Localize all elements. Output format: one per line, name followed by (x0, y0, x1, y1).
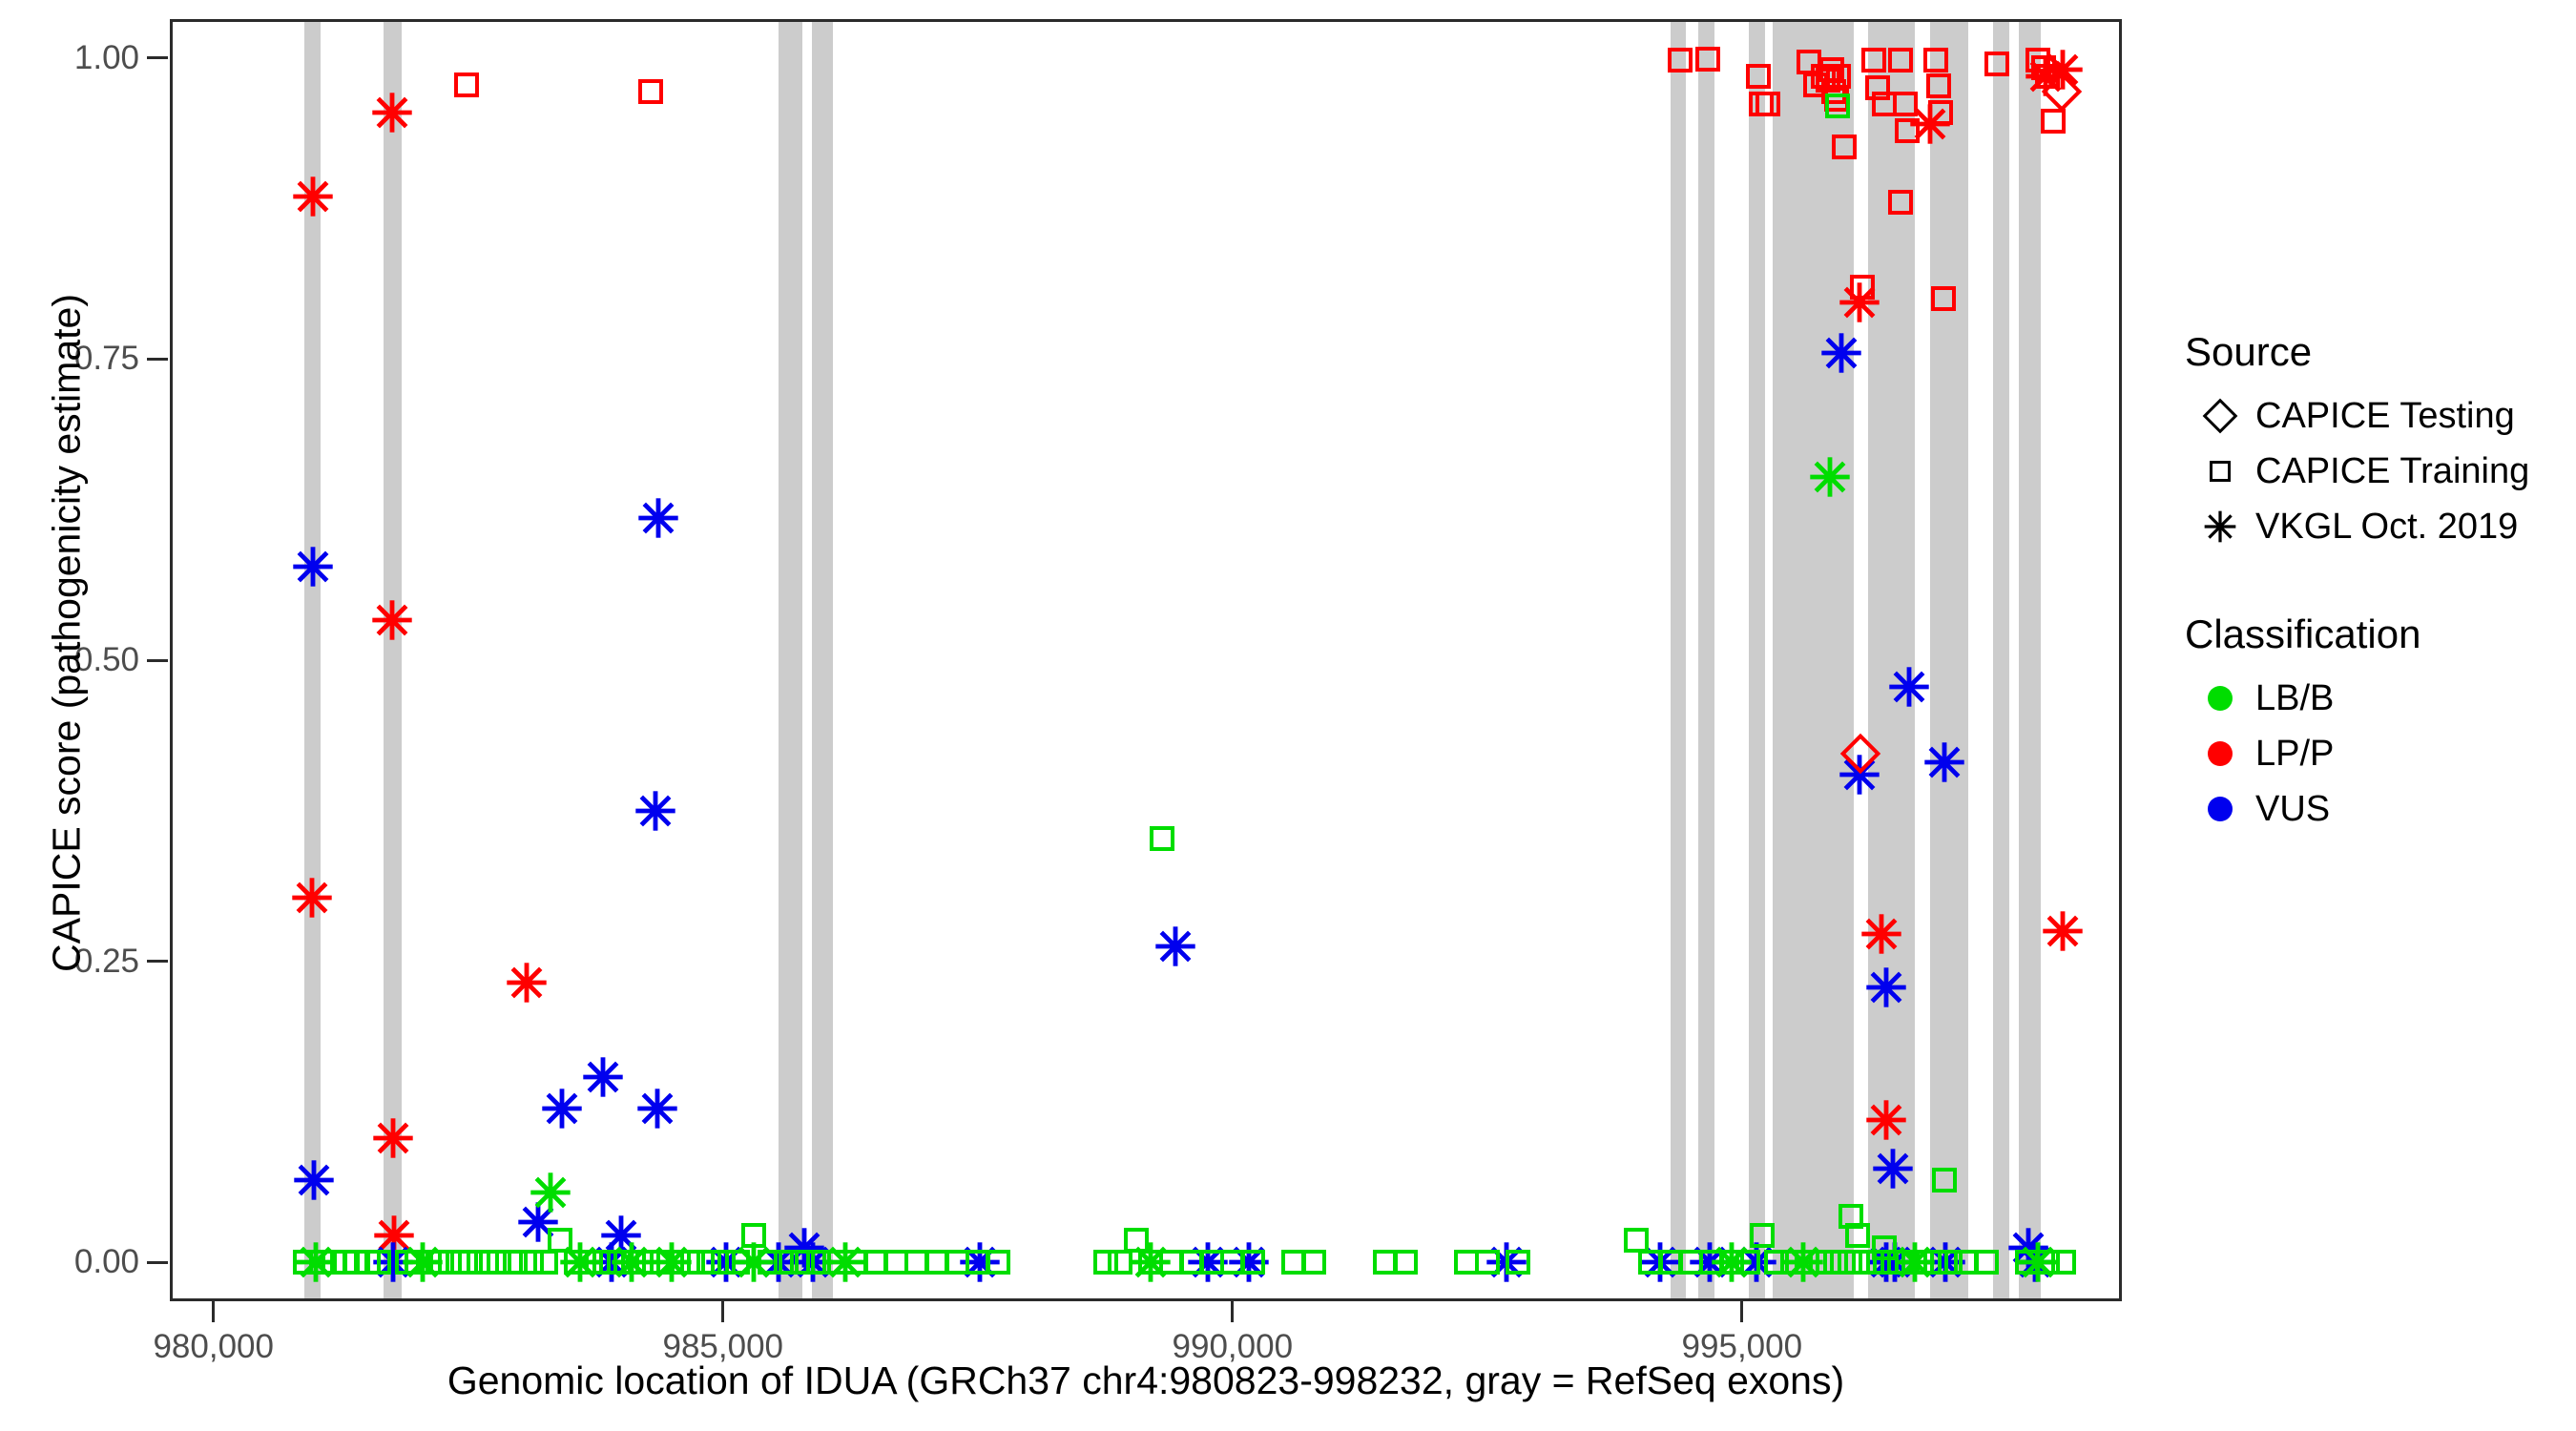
x-tick (1231, 1301, 1234, 1322)
data-point-asterisk (505, 961, 549, 1005)
data-point-square (1825, 93, 1850, 118)
legend-label: CAPICE Training (2255, 451, 2529, 492)
square-icon (2185, 461, 2255, 482)
data-point-asterisk (1864, 965, 1908, 1009)
data-point-asterisk (1922, 740, 1966, 784)
data-point-square (1895, 118, 1920, 143)
data-point-square (1150, 826, 1174, 851)
data-point-square (1475, 1250, 1500, 1275)
legend-label: VKGL Oct. 2019 (2255, 507, 2518, 548)
data-point-square (2051, 1250, 2076, 1275)
data-point-square (725, 1250, 750, 1275)
data-point-square (1755, 92, 1780, 116)
data-point-square (1826, 64, 1851, 89)
data-point-square (1932, 1168, 1957, 1192)
data-point-asterisk (1819, 331, 1863, 375)
data-point-square (1984, 52, 2009, 76)
data-point-asterisk (370, 598, 414, 642)
data-point-square (1974, 1250, 1999, 1275)
legend-item-vus[interactable]: VUS (2185, 781, 2566, 837)
legend-title-classification: Classification (2185, 612, 2566, 657)
circle-icon (2185, 741, 2255, 766)
data-point-asterisk (1859, 912, 1903, 956)
data-point-asterisk (2041, 909, 2085, 953)
data-point-square (1931, 286, 1956, 311)
data-point-square (1735, 1250, 1760, 1275)
data-point-asterisk (292, 1158, 336, 1202)
data-point-asterisk (540, 1087, 584, 1130)
data-point-square (1695, 47, 1720, 72)
data-points-layer (173, 22, 2119, 1298)
data-point-asterisk (634, 789, 677, 833)
data-point-asterisk (581, 1055, 625, 1099)
data-point-square (1301, 1250, 1326, 1275)
y-tick (147, 56, 168, 59)
data-point-asterisk (291, 175, 335, 218)
data-point-square (1923, 48, 1948, 73)
data-point-asterisk (290, 876, 334, 920)
data-point-asterisk (1871, 1147, 1915, 1191)
data-point-asterisk (635, 1087, 679, 1130)
data-point-square (1393, 1250, 1418, 1275)
data-point-square (1750, 1223, 1775, 1248)
data-point-asterisk (1153, 924, 1197, 968)
data-point-asterisk (291, 545, 335, 589)
data-point-asterisk (371, 1116, 415, 1160)
asterisk-icon (2185, 508, 2255, 545)
y-axis-title: CAPICE score (pathogenicity estimate) (45, 13, 90, 1254)
data-point-square (741, 1223, 766, 1248)
data-point-square (1888, 190, 1913, 215)
data-point-square (1893, 92, 1918, 116)
y-tick (147, 960, 168, 963)
data-point-asterisk (529, 1171, 572, 1214)
data-point-square (1668, 48, 1693, 73)
y-tick (147, 659, 168, 662)
data-point-square (1888, 48, 1913, 73)
circle-icon (2185, 797, 2255, 821)
legend-item-capice-testing[interactable]: CAPICE Testing (2185, 388, 2566, 444)
x-tick (1740, 1301, 1743, 1322)
data-point-square (1845, 1223, 1870, 1248)
data-point-asterisk (370, 91, 414, 135)
data-point-square (1832, 135, 1857, 159)
legend-item-capice-training[interactable]: CAPICE Training (2185, 444, 2566, 499)
data-point-square (1506, 1250, 1530, 1275)
legend-label: LP/P (2255, 734, 2334, 775)
legend-spacer (2185, 554, 2566, 612)
y-tick (147, 1261, 168, 1264)
x-tick (212, 1301, 215, 1322)
legend-item-lpp[interactable]: LP/P (2185, 726, 2566, 781)
data-point-asterisk (1887, 665, 1931, 709)
legend-label: VUS (2255, 789, 2330, 830)
legend: Source CAPICE Testing CAPICE Training (2185, 329, 2566, 837)
x-axis-title: Genomic location of IDUA (GRCh37 chr4:98… (170, 1358, 2122, 1403)
data-point-square (1926, 73, 1951, 98)
data-point-asterisk (1864, 1098, 1908, 1142)
data-point-square (533, 1250, 558, 1275)
data-point-square (1850, 275, 1875, 300)
data-point-square (366, 1250, 391, 1275)
legend-label: LB/B (2255, 678, 2334, 719)
chart-figure: 0.000.250.500.751.00 CAPICE score (patho… (0, 0, 2576, 1431)
data-point-asterisk (1808, 455, 1852, 499)
data-point-square (1861, 48, 1886, 73)
x-tick (721, 1301, 724, 1322)
data-point-square (1108, 1250, 1132, 1275)
data-point-square (1746, 64, 1771, 89)
legend-item-vkgl[interactable]: VKGL Oct. 2019 (2185, 499, 2566, 554)
data-point-square (986, 1250, 1010, 1275)
data-point-square (1240, 1250, 1265, 1275)
data-point-square (638, 79, 663, 104)
legend-item-lbb[interactable]: LB/B (2185, 671, 2566, 726)
legend-title-source: Source (2185, 329, 2566, 375)
data-point-asterisk (636, 496, 680, 540)
diamond-icon (2185, 404, 2255, 428)
data-point-square (1928, 100, 1953, 125)
legend-label: CAPICE Testing (2255, 396, 2515, 437)
data-point-square (454, 73, 479, 97)
y-tick (147, 358, 168, 361)
circle-icon (2185, 686, 2255, 711)
plot-panel (170, 19, 2122, 1301)
